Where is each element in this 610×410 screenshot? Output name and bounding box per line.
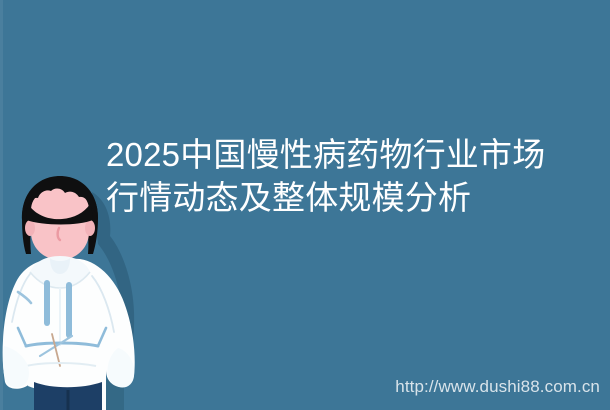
ear-right (85, 220, 95, 236)
banner-root: 2025中国慢性病药物行业市场 行情动态及整体规模分析 http://www.d… (0, 0, 610, 410)
page-title-line-2: 行情动态及整体规模分析 (106, 176, 546, 219)
page-title-line-1: 2025中国慢性病药物行业市场 (106, 133, 546, 176)
drawstring-right (66, 282, 72, 338)
ear-left (25, 220, 35, 236)
drawstring-left (44, 280, 50, 326)
watermark-url: http://www.dushi88.com.cn (395, 377, 600, 397)
page-title: 2025中国慢性病药物行业市场 行情动态及整体规模分析 (106, 133, 546, 219)
